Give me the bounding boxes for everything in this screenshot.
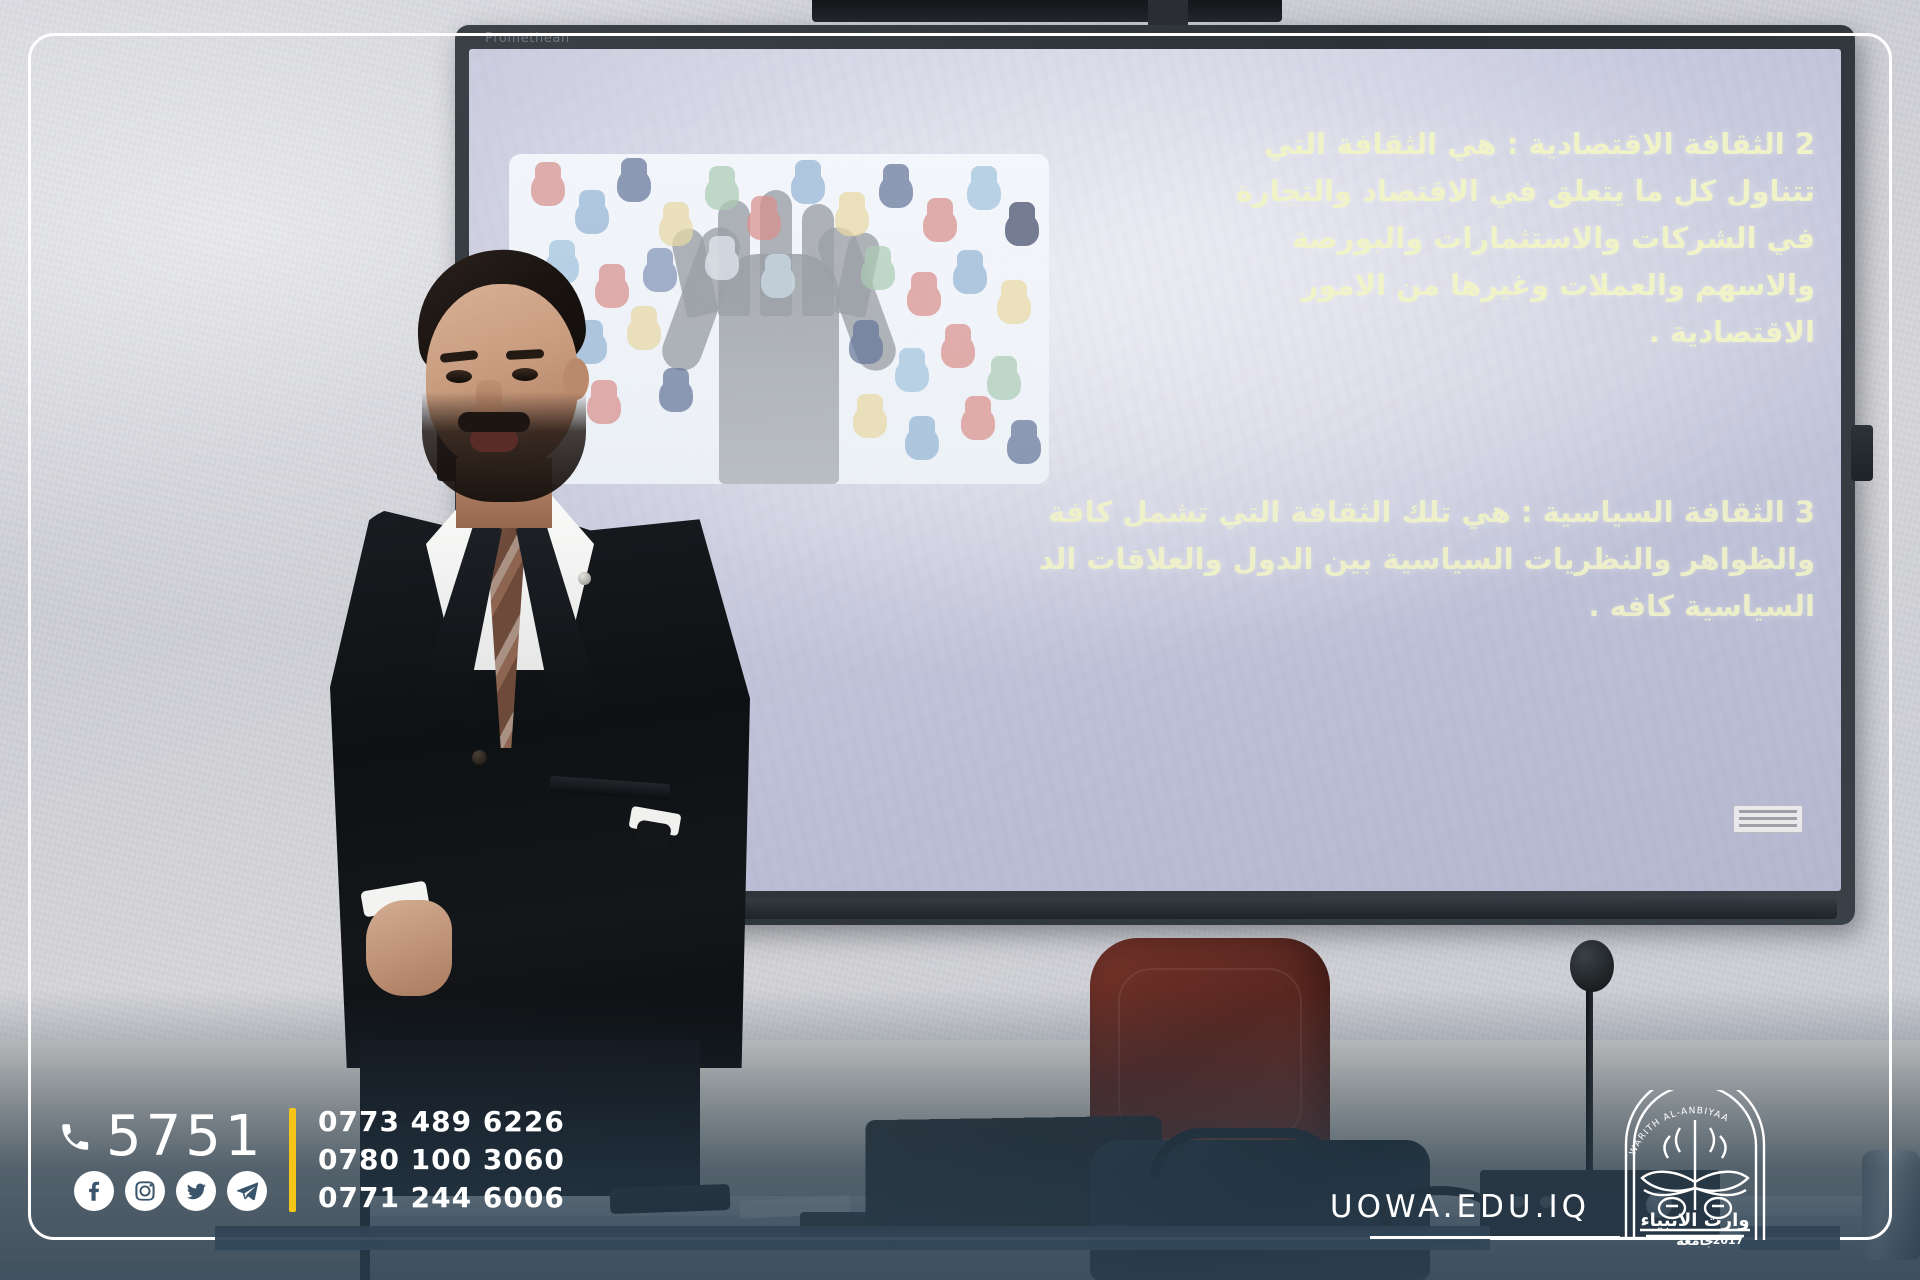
facebook-icon[interactable] — [74, 1171, 114, 1211]
ceiling-projector-strip — [812, 0, 1282, 22]
yellow-divider — [289, 1108, 296, 1212]
slide-line: في الشركات والاستثمارات والبورصة — [1055, 215, 1815, 262]
footer-contact-block: 5751 — [58, 1105, 565, 1214]
whiteboard-spec-sticker — [1733, 805, 1803, 833]
twitter-glyph — [183, 1178, 209, 1204]
frame-bottom-gap-left — [215, 1226, 1490, 1250]
frame-horizontal-rule-right — [1370, 1236, 1620, 1239]
hotline-row[interactable]: 5751 — [58, 1109, 267, 1165]
twitter-icon[interactable] — [176, 1171, 216, 1211]
gesturing-hand — [366, 900, 452, 996]
presenter-person — [330, 240, 750, 1060]
microphone-head — [1570, 940, 1614, 992]
hotline-number: 5751 — [106, 1109, 265, 1165]
whiteboard-brand-label: Promethean — [485, 31, 570, 46]
slide-paragraph-political-culture: 3 الثقافة السياسية : هي تلك الثقافة التي… — [835, 489, 1815, 630]
university-of-warith-al-anbiyaa-logo: وارث الانبياء جامعة 2017 WARITH AL-ANBIY… — [1610, 1090, 1780, 1250]
logo-year: 2017 — [1713, 1234, 1744, 1247]
instagram-glyph — [132, 1178, 158, 1204]
moustache — [458, 412, 530, 432]
photo-canvas: Promethean — [0, 0, 1920, 1280]
logo-arabic-sub: جامعة — [1676, 1234, 1714, 1249]
slide-line: الاقتصادية . — [1055, 309, 1815, 356]
hotline-and-socials: 5751 — [58, 1109, 267, 1211]
slide-line: تتناول كل ما يتعلق في الاقتصاد والتجارة — [1055, 168, 1815, 215]
eye-left — [446, 370, 472, 383]
slide-line: السياسية كافه . — [835, 583, 1815, 630]
slide-line: والظواهر والنظريات السياسية بين الدول وا… — [835, 536, 1815, 583]
wristwatch — [634, 819, 672, 851]
eye-right — [512, 368, 538, 381]
logo-artwork: وارث الانبياء جامعة 2017 WARITH AL-ANBIY… — [1610, 1090, 1780, 1250]
website-url[interactable]: UOWA.EDU.IQ — [1330, 1189, 1590, 1225]
slide-line: 2 الثقافة الاقتصادية : هي الثقافة التي — [1055, 121, 1815, 168]
facebook-glyph — [81, 1178, 107, 1204]
social-links — [58, 1171, 267, 1211]
logo-arabic-name: وارث الانبياء — [1640, 1210, 1749, 1231]
phone-number-list: 0773 489 6226 0780 100 3060 0771 244 600… — [318, 1105, 565, 1214]
slide-line: 3 الثقافة السياسية : هي تلك الثقافة التي… — [835, 489, 1815, 536]
slide-paragraph-economic-culture: 2 الثقافة الاقتصادية : هي الثقافة التي ت… — [1055, 121, 1815, 356]
phone-number[interactable]: 0773 489 6226 — [318, 1105, 565, 1138]
slide-line: والاسهم والعملات وغيرها من الامور — [1055, 262, 1815, 309]
phone-number[interactable]: 0771 244 6006 — [318, 1181, 565, 1214]
phone-number[interactable]: 0780 100 3060 — [318, 1143, 565, 1176]
jacket-button — [472, 750, 487, 765]
mouth — [470, 430, 518, 452]
telegram-glyph — [234, 1178, 260, 1204]
lapel-pin — [578, 572, 591, 585]
telegram-icon[interactable] — [227, 1171, 267, 1211]
whiteboard-pen-holder-right — [1851, 425, 1873, 481]
phone-icon — [58, 1120, 92, 1154]
instagram-icon[interactable] — [125, 1171, 165, 1211]
